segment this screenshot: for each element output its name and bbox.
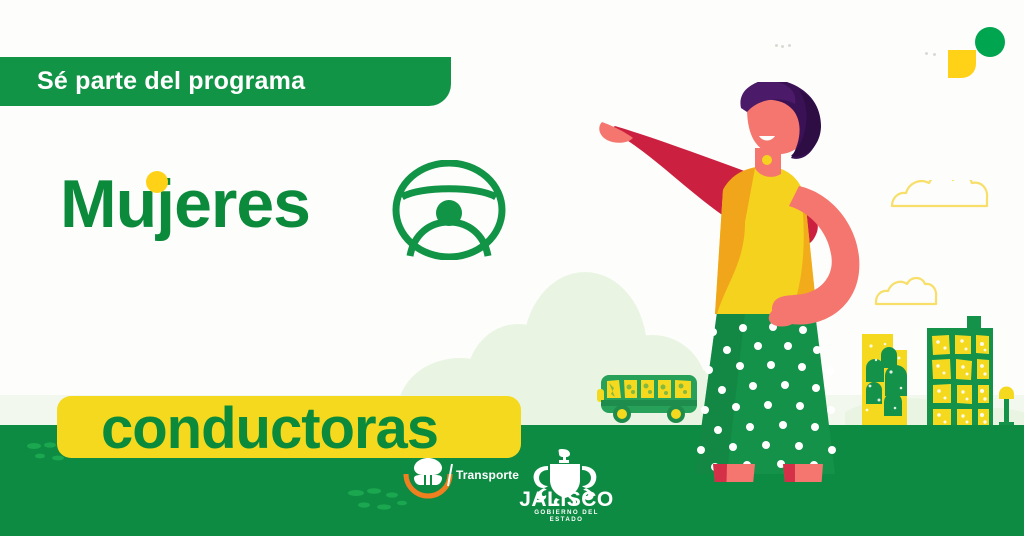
headline-line-2: conductoras: [101, 400, 438, 458]
banner-text: Sé parte del programa: [0, 67, 305, 96]
j-accent-dot: [146, 171, 168, 193]
corner-accent-shapes: [930, 20, 1010, 90]
head: [740, 82, 821, 165]
dot-accent-b: [925, 52, 939, 57]
dot-accent-a: [775, 44, 795, 50]
poster-canvas: Sé parte del programa Mujeres conductora…: [0, 0, 1024, 536]
headline-group: Mujeres conductoras: [0, 160, 540, 310]
jalisco-subtitle: GOBIERNO DEL ESTADO: [518, 509, 615, 523]
program-banner: Sé parte del programa: [0, 57, 451, 106]
footer-logos: Transporte: [400, 448, 615, 520]
transporte-wordmark: Transporte: [456, 468, 519, 482]
skirt: [695, 312, 836, 474]
headline-line-1: Mujeres: [60, 170, 310, 238]
woman-illustration: [595, 82, 915, 482]
green-building: [927, 316, 993, 428]
